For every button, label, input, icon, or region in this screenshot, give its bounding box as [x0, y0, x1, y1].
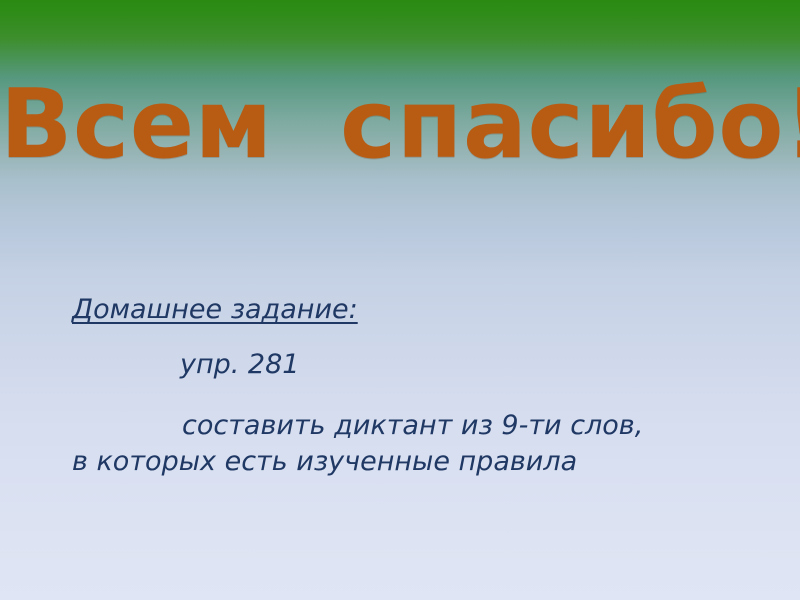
homework-exercise: упр. 281	[0, 351, 800, 378]
page-title: Всем спасибо!	[0, 78, 800, 173]
title-block: Всем спасибо!	[0, 78, 800, 173]
presentation-slide: Всем спасибо! Домашнее задание: упр. 281…	[0, 0, 800, 600]
homework-heading: Домашнее задание:	[0, 296, 800, 323]
homework-heading-text: Домашнее задание:	[72, 294, 358, 325]
homework-task: составить диктант из 9-ти слов, в которы…	[0, 408, 800, 479]
homework-block: Домашнее задание: упр. 281 составить дик…	[0, 296, 800, 479]
